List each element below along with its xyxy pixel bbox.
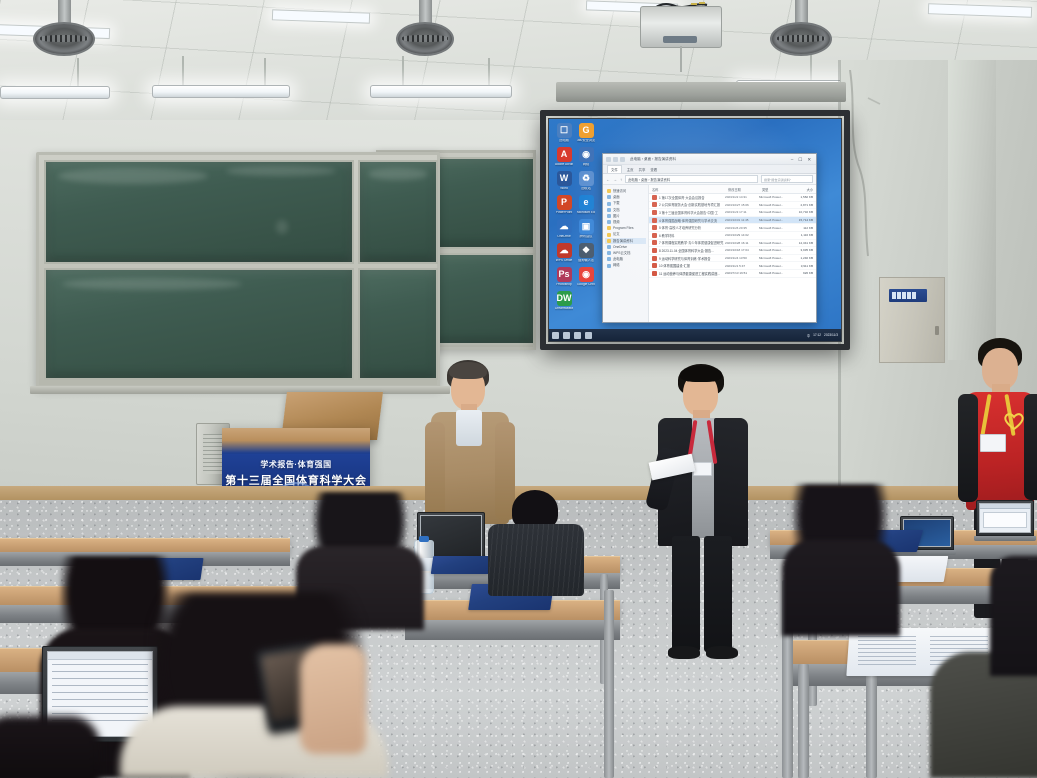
explorer-search-input[interactable]: 搜索"报告演讲资料" <box>761 175 813 183</box>
nav-item-label: 网络 <box>613 262 620 268</box>
leg-left <box>672 536 700 652</box>
name-badge <box>693 462 712 476</box>
file-date: 2023/11/4 13:50 <box>725 256 759 260</box>
tray-clock-time[interactable]: 17:12 <box>813 333 821 337</box>
file-rows[interactable]: 1 第17次全国体育·大会会议报告2023/11/2 14:31Microsof… <box>649 194 816 278</box>
file-size: 3,935 KB <box>792 248 816 252</box>
folder-icon <box>607 257 611 261</box>
ribbon-tab-共享[interactable]: 共享 <box>639 167 646 172</box>
laptop-right-a[interactable] <box>976 500 1036 544</box>
pendant-rod-2 <box>182 56 184 88</box>
file-date: 2023/10/28 16:11 <box>725 241 759 245</box>
suit-jacket <box>488 524 584 596</box>
system-tray[interactable]: 中 17:12 2023/11/3 <box>807 333 838 338</box>
desktop-icon-此电脑[interactable]: ☐此电脑 <box>555 123 573 143</box>
file-row[interactable]: 3 第十三届全国体育科学大会报告·中国·工2023/11/3 17:11Micr… <box>649 209 816 217</box>
pendant-light-2 <box>152 85 290 98</box>
back-icon[interactable]: ← <box>606 177 610 182</box>
hair-top <box>449 362 487 379</box>
tray-ime[interactable]: 中 <box>807 333 810 338</box>
folder-icon <box>607 245 611 249</box>
file-date: 2023/7/13 16:51 <box>725 271 759 275</box>
address-path[interactable]: 此电脑 › 桌面 › 报告演讲资料 <box>625 175 758 183</box>
file-list-header[interactable]: 名称 修改日期 类型 大小 <box>649 185 816 194</box>
file-date: 2023/10/31 11:45 <box>725 218 759 222</box>
file-type: Microsoft Power... <box>759 203 792 207</box>
file-size: 112 KB <box>792 226 816 230</box>
ribbon-tab-文件[interactable]: 文件 <box>607 165 622 173</box>
desktop-icon-Photoshop[interactable]: PsPhotoshop <box>555 267 573 287</box>
desktop-icon-Word[interactable]: WWord <box>555 171 573 191</box>
desktop-icon-搜狗输入法[interactable]: ❖搜狗输入法 <box>577 243 595 263</box>
desktop-icon-回收站[interactable]: ♻回收站 <box>577 171 595 191</box>
file-date: 2023/10/29 14:02 <box>725 233 759 237</box>
hair-front <box>680 366 722 382</box>
quick-save-icon[interactable] <box>613 157 618 162</box>
windows-taskbar[interactable]: 中 17:12 2023/11/3 <box>549 329 841 341</box>
file-name: 1 第17次全国体育·大会会议报告 <box>657 195 725 200</box>
blackboard-frame <box>36 152 440 388</box>
file-name: 10 体育强国建设·汇报 <box>657 263 725 268</box>
desktop-icon-glyph: ☁ <box>557 243 572 258</box>
desktop-icon-glyph: ❖ <box>579 243 594 258</box>
desktop-icon-label: OneDrive <box>555 235 573 239</box>
file-size: 1,116 KB <box>792 233 816 237</box>
blackboard-panel-top-left <box>44 160 354 264</box>
shirt-collar <box>456 410 482 446</box>
desktop-icon-glyph: A <box>557 147 572 162</box>
file-size: 10,732 KB <box>792 210 816 214</box>
file-date: 2023/10/27 15:06 <box>725 203 759 207</box>
file-date: 2023/11/6 20:35 <box>725 226 759 230</box>
start-button[interactable] <box>552 332 559 339</box>
desktop-icon-腾讯会议[interactable]: ▣腾讯会议 <box>577 219 595 239</box>
file-type: Microsoft Power... <box>759 264 792 268</box>
close-button[interactable]: ✕ <box>807 157 811 162</box>
folder-icon <box>607 189 611 193</box>
desktop-icon-label: 360安全浏览器 <box>577 139 595 143</box>
hand-holding-phone <box>300 644 366 754</box>
desk-row-c-center-front <box>405 620 620 640</box>
column-type[interactable]: 类型 <box>759 187 792 192</box>
file-type: Microsoft Power... <box>759 241 792 245</box>
file-date: 2023/11/1 5:47 <box>725 264 759 268</box>
file-type: Microsoft Power... <box>759 226 792 230</box>
file-type: Microsoft Power... <box>759 271 792 275</box>
person-seated-right-back-body <box>782 540 900 636</box>
desktop-icon-glyph: DW <box>557 291 572 306</box>
cabinet-warning-label <box>889 289 927 302</box>
blackboard-chalk-ledge <box>30 386 450 394</box>
desktop-icon-label: Dreamweaver <box>555 307 573 311</box>
desktop-icon-360安全浏览器[interactable]: G360安全浏览器 <box>577 123 595 143</box>
desktop-icon-Adobe Acrobat[interactable]: AAdobe Acrobat <box>555 147 573 167</box>
laptop-screen <box>979 503 1031 533</box>
arm-left <box>425 422 445 522</box>
file-row[interactable]: 2 公共体育服务大会·创新实践基地专项汇报2023/10/27 15:06Mic… <box>649 202 816 210</box>
file-name: 2 公共体育服务大会·创新实践基地专项汇报 <box>657 202 725 207</box>
shoe-left <box>668 646 700 659</box>
file-size: 926 KB <box>792 271 816 275</box>
desktop-icon-glyph: ▣ <box>579 219 594 234</box>
ceiling-fan-left <box>33 0 95 58</box>
file-row[interactable]: 8 2023.11.04 全国体育科学大会·报告...2023/10/18 17… <box>649 247 816 255</box>
folder-icon <box>607 251 611 255</box>
explorer-ribbon-tabs[interactable]: 文件主页共享查看 <box>603 165 816 174</box>
projector-lens <box>663 36 697 43</box>
file-row[interactable]: 1 第17次全国体育·大会会议报告2023/11/2 14:31Microsof… <box>649 194 816 202</box>
file-name: 3 第十三届全国体育科学大会报告·中国·工 <box>657 210 725 215</box>
up-icon[interactable]: ↑ <box>620 177 622 182</box>
desktop-icon-WPS Office[interactable]: ☁WPS Office <box>555 243 573 263</box>
file-size: 1,582 KB <box>792 195 816 199</box>
folder-icon <box>607 202 611 206</box>
file-type: Microsoft Power... <box>759 248 792 252</box>
conference-booklet-far-left[interactable] <box>431 556 492 574</box>
quick-access-icon[interactable] <box>606 157 611 162</box>
desktop-icon-网络[interactable]: ◉网络 <box>577 147 595 167</box>
bottle-cap <box>419 536 429 542</box>
desktop-icon-label: 此电脑 <box>555 139 573 143</box>
desktop-icon-glyph: ♻ <box>579 171 594 186</box>
pendant-light-1 <box>0 86 110 99</box>
file-name: 8 2023.11.04 全国体育科学大会·报告... <box>657 248 725 253</box>
pendant-light-3 <box>370 85 512 98</box>
explorer-navigation-pane[interactable]: 快速访问桌面下载文档图片视频Program Files论文报告演讲资料OneDr… <box>603 185 649 323</box>
desktop-icon-label: PowerPoint <box>555 211 573 215</box>
column-date[interactable]: 修改日期 <box>725 187 759 192</box>
column-size[interactable]: 大小 <box>792 187 816 192</box>
file-row[interactable]: 7 体育课程实践教学·青少年体质健康促进研究2023/10/28 16:11Mi… <box>649 240 816 248</box>
tray-clock-date[interactable]: 2023/11/3 <box>824 333 838 337</box>
folder-icon <box>607 220 611 224</box>
desktop-icon-Google Chrome[interactable]: ◉Google Chrome <box>577 267 595 287</box>
blackboard-panel-bottom-right <box>358 268 438 380</box>
sleeve-left <box>958 394 978 502</box>
desktop-icon-label: 网络 <box>577 163 595 167</box>
pendant-rod-4 <box>402 56 404 88</box>
desktop-icon-label: Microsoft Edge <box>577 211 595 215</box>
desktop-icon-label: WPS Office <box>555 259 573 263</box>
explorer-title-bar[interactable]: 此电脑 › 桌面 › 报告演讲资料 – ☐ ✕ <box>603 154 816 165</box>
ribbon-tab-查看[interactable]: 查看 <box>650 167 657 172</box>
search-icon[interactable] <box>563 332 570 339</box>
file-explorer-window[interactable]: 此电脑 › 桌面 › 报告演讲资料 – ☐ ✕ 文件主页共享查看 ← → ↑ 此… <box>602 153 817 323</box>
file-size: 12,341 KB <box>792 241 816 245</box>
desktop-icon-glyph: ☐ <box>557 123 572 138</box>
file-size: 2,871 KB <box>792 203 816 207</box>
file-row[interactable]: 4 体育强国战略·体育强国研究与学术交流2023/10/31 11:45Micr… <box>649 217 816 225</box>
ribbon-tab-主页[interactable]: 主页 <box>627 167 634 172</box>
file-name: 5 体育·高校人才培养研究分析 <box>657 225 725 230</box>
person-foreground-left-corner <box>0 716 100 778</box>
desk-leg-d1 <box>798 664 809 778</box>
desktop-icon-glyph: P <box>557 195 572 210</box>
desktop-icon-glyph: W <box>557 171 572 186</box>
desktop-icon-label: Word <box>555 187 573 191</box>
column-name[interactable]: 名称 <box>649 187 725 192</box>
file-name: 6 教学材料 <box>657 233 725 238</box>
file-date: 2023/10/18 17:04 <box>725 248 759 252</box>
projection-screen[interactable]: ☐此电脑G360安全浏览器AAdobe Acrobat◉网络WWord♻回收站P… <box>548 118 842 342</box>
explorer-window-title: 此电脑 › 桌面 › 报告演讲资料 <box>630 157 676 162</box>
explorer-file-list[interactable]: 名称 修改日期 类型 大小 1 第17次全国体育·大会会议报告2023/11/2… <box>649 185 816 323</box>
folder-icon <box>607 264 611 268</box>
minimize-button[interactable]: – <box>791 157 793 162</box>
file-type: Microsoft Power... <box>759 218 792 222</box>
desktop-icon-glyph: ◉ <box>579 147 594 162</box>
desktop-icon-glyph: ☁ <box>557 219 572 234</box>
desktop-icon-label: Adobe Acrobat <box>555 163 573 167</box>
wall-conduit <box>838 70 958 260</box>
desktop-icon-label: 回收站 <box>577 187 595 191</box>
pendant-rod-1 <box>77 58 79 88</box>
desktop-icon-glyph: e <box>579 195 594 210</box>
projector-mount-rod <box>680 46 682 72</box>
file-name: 9 运动科学研究与体育训练·学术报告 <box>657 256 725 261</box>
desktop-icon-label: 腾讯会议 <box>577 235 595 239</box>
nav-item-网络[interactable]: 网络 <box>605 262 646 268</box>
blackboard-panel-bottom-left <box>44 268 354 380</box>
maximize-button[interactable]: ☐ <box>798 157 802 162</box>
quick-undo-icon[interactable] <box>620 157 625 162</box>
desktop-icon-OneDrive[interactable]: ☁OneDrive <box>555 219 573 239</box>
file-row[interactable]: 9 运动科学研究与体育训练·学术报告2023/11/4 13:50Microso… <box>649 255 816 263</box>
explorer-taskbar-icon[interactable] <box>585 332 592 339</box>
file-size: 3,911 KB <box>792 264 816 268</box>
program-text-lines-left <box>858 636 916 666</box>
file-row[interactable]: 5 体育·高校人才培养研究分析2023/11/6 20:35Microsoft … <box>649 224 816 232</box>
desktop-icon-label: 搜狗输入法 <box>577 259 595 263</box>
file-type: Microsoft Power... <box>759 210 792 214</box>
file-row[interactable]: 11 运动营养与体质健康促进工程实践讲座...2023/7/13 16:51Mi… <box>649 270 816 278</box>
pendant-rod-5 <box>488 58 490 88</box>
lecture-hall-photo: ☐此电脑G360安全浏览器AAdobe Acrobat◉网络WWord♻回收站P… <box>0 0 1037 778</box>
sleeve-right <box>1024 394 1037 500</box>
banner-line-1: 学术报告·体育强国 <box>260 459 331 470</box>
folder-icon <box>607 226 611 230</box>
shoe-right <box>706 646 738 659</box>
volunteer-badge <box>980 434 1006 452</box>
file-name: 4 体育强国战略·体育强国研究与学术交流 <box>657 218 725 223</box>
folder-icon <box>607 239 611 243</box>
file-type: Microsoft Power... <box>759 195 792 199</box>
desktop-icon-label: Google Chrome <box>577 283 595 287</box>
file-size: 15,714 KB <box>792 218 816 222</box>
file-type: Microsoft Power... <box>759 256 792 260</box>
folder-icon <box>607 233 611 237</box>
desktop-icon-Microsoft Edge[interactable]: eMicrosoft Edge <box>577 195 595 215</box>
leg-right <box>704 536 732 652</box>
forward-icon[interactable]: → <box>613 177 617 182</box>
desktop-icon-glyph: Ps <box>557 267 572 282</box>
explorer-address-bar[interactable]: ← → ↑ 此电脑 › 桌面 › 报告演讲资料 搜索"报告演讲资料" <box>603 174 816 185</box>
desktop-icon-label: Photoshop <box>555 283 573 287</box>
desktop-icon-Dreamweaver[interactable]: DWDreamweaver <box>555 291 573 311</box>
file-size: 1,240 KB <box>792 256 816 260</box>
folder-icon <box>607 195 611 199</box>
file-name: 7 体育课程实践教学·青少年体质健康促进研究 <box>657 240 725 245</box>
desktop-icon-glyph: G <box>579 123 594 138</box>
file-name: 11 运动营养与体质健康促进工程实践讲座... <box>657 271 725 276</box>
file-row[interactable]: 6 教学材料2023/10/29 14:021,116 KB <box>649 232 816 240</box>
desktop-icon-PowerPoint[interactable]: PPowerPoint <box>555 195 573 215</box>
cabinet-handle[interactable] <box>935 326 939 335</box>
task-view-icon[interactable] <box>574 332 581 339</box>
folder-icon <box>607 208 611 212</box>
aisle-rail-left <box>604 590 614 778</box>
ceiling-projector <box>640 6 722 48</box>
ceiling-fan-mid <box>396 0 454 54</box>
ceiling-fan-right <box>770 0 832 56</box>
projection-screen-case <box>556 82 846 102</box>
desktop-icon-glyph: ◉ <box>579 267 594 282</box>
heart-logo-icon <box>1004 412 1024 430</box>
electrical-cabinet[interactable] <box>879 277 945 363</box>
pendant-rod-3 <box>264 58 266 88</box>
blazer-right <box>714 418 748 546</box>
pendant-rod-6 <box>810 52 812 82</box>
file-date: 2023/11/3 17:11 <box>725 210 759 214</box>
person-seated-far-right <box>990 556 1037 676</box>
blackboard-panel-top-right <box>358 160 438 264</box>
file-row[interactable]: 10 体育强国建设·汇报2023/11/1 5:47Microsoft Powe… <box>649 262 816 270</box>
folder-icon <box>607 214 611 218</box>
file-date: 2023/11/2 14:31 <box>725 195 759 199</box>
